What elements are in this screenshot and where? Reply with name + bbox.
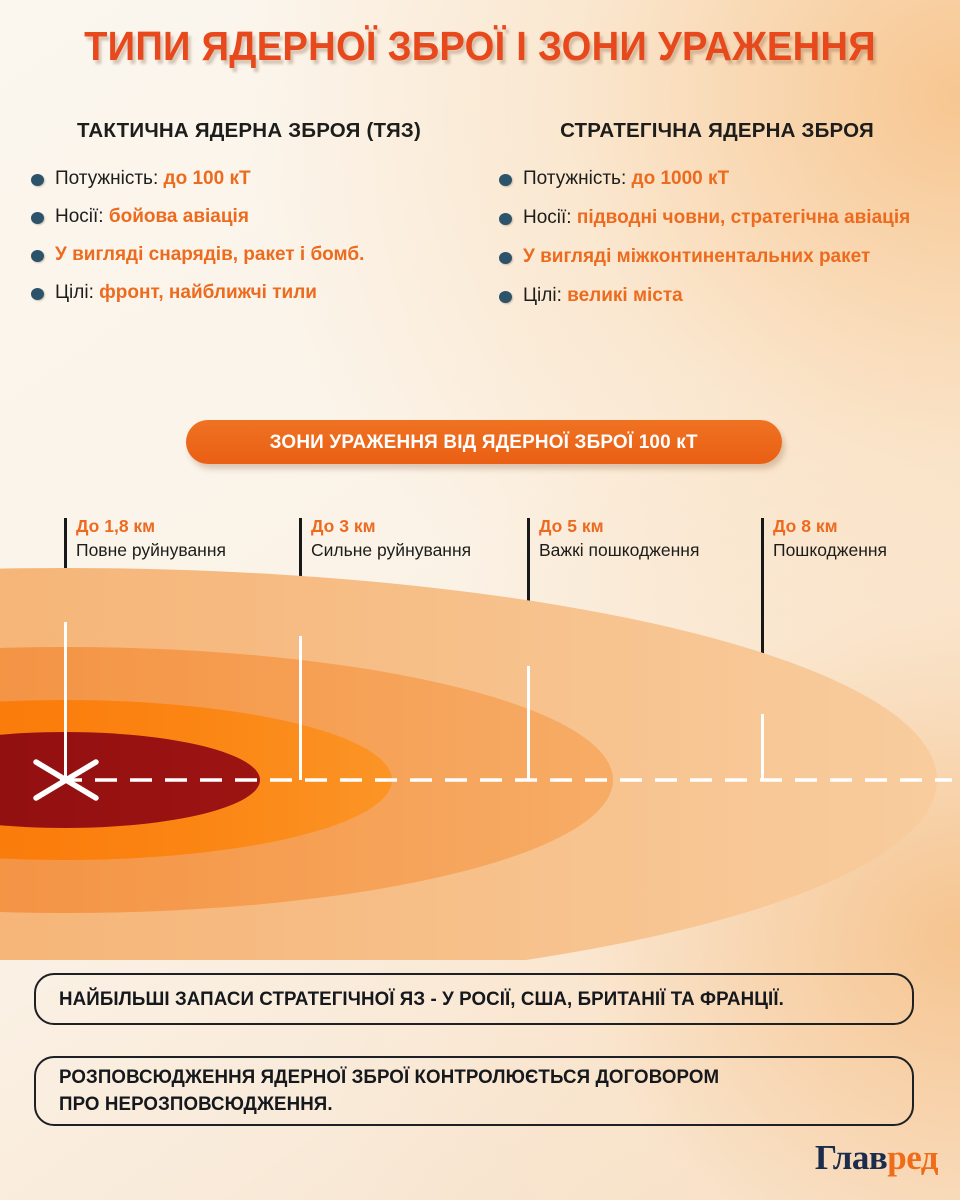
list-item: У вигляді міжконтинентальних ракет [482,244,952,270]
bullet-value: великі міста [567,285,683,306]
info-box-line-1: РОЗПОВСЮДЖЕННЯ ЯДЕРНОЇ ЗБРОЇ КОНТРОЛЮЄТЬ… [59,1064,719,1091]
bullet-label: Носії: [55,206,109,227]
bullet-list-strategic: Потужність: до 1000 кТ Носії: підводні ч… [482,166,952,309]
list-item: Цілі: великі міста [482,283,952,309]
bullet-dot-icon [31,250,44,262]
column-tactical: ТАКТИЧНА ЯДЕРНА ЗБРОЯ (ТЯЗ) Потужність: … [14,118,484,318]
logo-part-glav: Глав [815,1138,887,1177]
bullet-value: бойова авіація [109,206,249,227]
zones-banner-label: ЗОНИ УРАЖЕННЯ ВІД ЯДЕРНОЇ ЗБРОЇ 100 кТ [270,431,698,454]
logo-part-red: ред [887,1138,938,1177]
infographic-page: ТИПИ ЯДЕРНОЇ ЗБРОЇ І ЗОНИ УРАЖЕННЯ ТАКТИ… [0,0,960,1200]
bullet-label: Цілі: [523,285,567,306]
glavred-logo[interactable]: Главред [815,1138,938,1178]
bullet-label: Цілі: [55,282,99,303]
info-box-stockpiles: НАЙБІЛЬШІ ЗАПАСИ СТРАТЕГІЧНОЇ ЯЗ - У РОС… [34,973,914,1025]
list-item: Потужність: до 100 кТ [14,166,484,192]
bullet-value: У вигляді снарядів, ракет і бомб. [55,244,364,265]
bullet-dot-icon [499,213,512,225]
bullet-dot-icon [499,252,512,264]
bullet-value: до 1000 кТ [632,168,730,189]
info-box-text-block: РОЗПОВСЮДЖЕННЯ ЯДЕРНОЇ ЗБРОЇ КОНТРОЛЮЄТЬ… [36,1064,742,1118]
bullet-label: Потужність: [523,168,632,189]
bullet-label: Носії: [523,207,577,228]
bullet-dot-icon [499,291,512,303]
bullet-value: У вигляді міжконтинентальних ракет [523,246,870,267]
column-heading: ТАКТИЧНА ЯДЕРНА ЗБРОЯ (ТЯЗ) [14,118,484,144]
list-item: Носії: підводні човни, стратегічна авіац… [482,205,952,231]
column-strategic: СТРАТЕГІЧНА ЯДЕРНА ЗБРОЯ Потужність: до … [482,118,952,322]
bullet-label: Потужність: [55,168,164,189]
bullet-list-tactical: Потужність: до 100 кТ Носії: бойова авіа… [14,166,484,306]
list-item: У вигляді снарядів, ракет і бомб. [14,242,484,268]
zones-banner: ЗОНИ УРАЖЕННЯ ВІД ЯДЕРНОЇ ЗБРОЇ 100 кТ [186,420,782,464]
page-title: ТИПИ ЯДЕРНОЇ ЗБРОЇ І ЗОНИ УРАЖЕННЯ [34,22,927,70]
bullet-dot-icon [499,174,512,186]
bullet-value: до 100 кТ [164,168,251,189]
info-box-line-2: ПРО НЕРОЗПОВСЮДЖЕННЯ. [59,1091,719,1118]
bullet-value: фронт, найближчі тили [99,282,317,303]
bullet-value: підводні човни, стратегічна авіація [577,207,910,228]
info-box-text: НАЙБІЛЬШІ ЗАПАСИ СТРАТЕГІЧНОЇ ЯЗ - У РОС… [36,986,807,1013]
blast-zone-diagram [0,500,960,960]
bullet-dot-icon [31,288,44,300]
list-item: Цілі: фронт, найближчі тили [14,280,484,306]
bullet-dot-icon [31,174,44,186]
column-heading: СТРАТЕГІЧНА ЯДЕРНА ЗБРОЯ [482,118,952,144]
list-item: Носії: бойова авіація [14,204,484,230]
list-item: Потужність: до 1000 кТ [482,166,952,192]
bullet-dot-icon [31,212,44,224]
info-box-treaty: РОЗПОВСЮДЖЕННЯ ЯДЕРНОЇ ЗБРОЇ КОНТРОЛЮЄТЬ… [34,1056,914,1126]
